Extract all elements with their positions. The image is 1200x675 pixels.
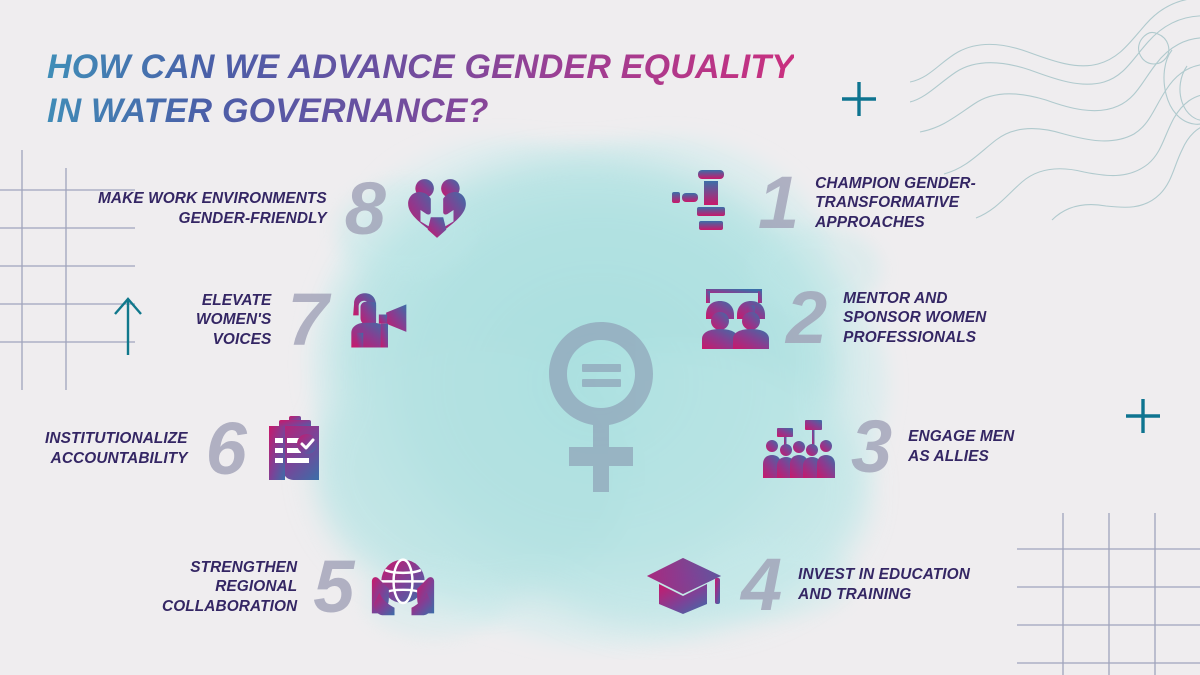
list-item-2[interactable]: 2 MENTOR AND SPONSOR WOMEN PROFESSIONALS <box>698 281 986 355</box>
item-number-8: 8 <box>345 172 386 246</box>
item-label-7: ELEVATE WOMEN'S VOICES <box>196 291 271 350</box>
item-label-8: MAKE WORK ENVIRONMENTS GENDER-FRIENDLY <box>98 189 327 228</box>
up-arrow-decoration <box>110 295 146 357</box>
item-number-3: 3 <box>851 410 892 484</box>
grid-lines-decoration-bottom-right <box>1005 487 1200 675</box>
list-item-7[interactable]: ELEVATE WOMEN'S VOICES 7 <box>196 283 410 357</box>
mentor-two-people-icon <box>698 285 770 351</box>
list-item-5[interactable]: STRENGTHEN REGIONAL COLLABORATION 5 <box>162 550 436 624</box>
item-label-2: MENTOR AND SPONSOR WOMEN PROFESSIONALS <box>843 289 986 348</box>
list-item-6[interactable]: INSTITUTIONALIZE ACCOUNTABILITY 6 <box>45 412 323 486</box>
list-item-8[interactable]: MAKE WORK ENVIRONMENTS GENDER-FRIENDLY 8 <box>98 172 470 246</box>
item-label-1: CHAMPION GENDER- TRANSFORMATIVE APPROACH… <box>815 174 976 233</box>
gavel-icon <box>668 166 742 240</box>
graduation-cap-icon <box>645 554 725 616</box>
list-item-1[interactable]: 1 CHAMPION GENDER- TRANSFORMATIVE APPROA… <box>668 166 976 240</box>
infographic-canvas: HOW CAN WE ADVANCE GENDER EQUALITY IN WA… <box>0 0 1200 675</box>
globe-in-hands-icon <box>370 554 436 620</box>
clipboard-checklist-icon <box>265 414 323 484</box>
item-number-4: 4 <box>741 548 782 622</box>
item-number-2: 2 <box>786 281 827 355</box>
item-number-1: 1 <box>758 166 799 240</box>
item-number-5: 5 <box>313 550 354 624</box>
list-item-3[interactable]: 3 ENGAGE MEN AS ALLIES <box>763 410 1014 484</box>
item-label-3: ENGAGE MEN AS ALLIES <box>908 427 1014 466</box>
woman-megaphone-icon <box>344 287 410 353</box>
gender-equality-symbol-icon <box>531 316 671 496</box>
plus-mark-decoration-right <box>1124 397 1162 435</box>
item-number-7: 7 <box>287 283 328 357</box>
heart-two-people-icon <box>404 176 470 242</box>
page-title: HOW CAN WE ADVANCE GENDER EQUALITY IN WA… <box>47 46 794 133</box>
item-label-5: STRENGTHEN REGIONAL COLLABORATION <box>162 558 297 617</box>
item-label-6: INSTITUTIONALIZE ACCOUNTABILITY <box>45 429 188 468</box>
item-label-4: INVEST IN EDUCATION AND TRAINING <box>798 565 970 604</box>
crowd-with-banners-icon <box>763 414 835 480</box>
item-number-6: 6 <box>206 412 247 486</box>
list-item-4[interactable]: 4 INVEST IN EDUCATION AND TRAINING <box>645 548 970 622</box>
